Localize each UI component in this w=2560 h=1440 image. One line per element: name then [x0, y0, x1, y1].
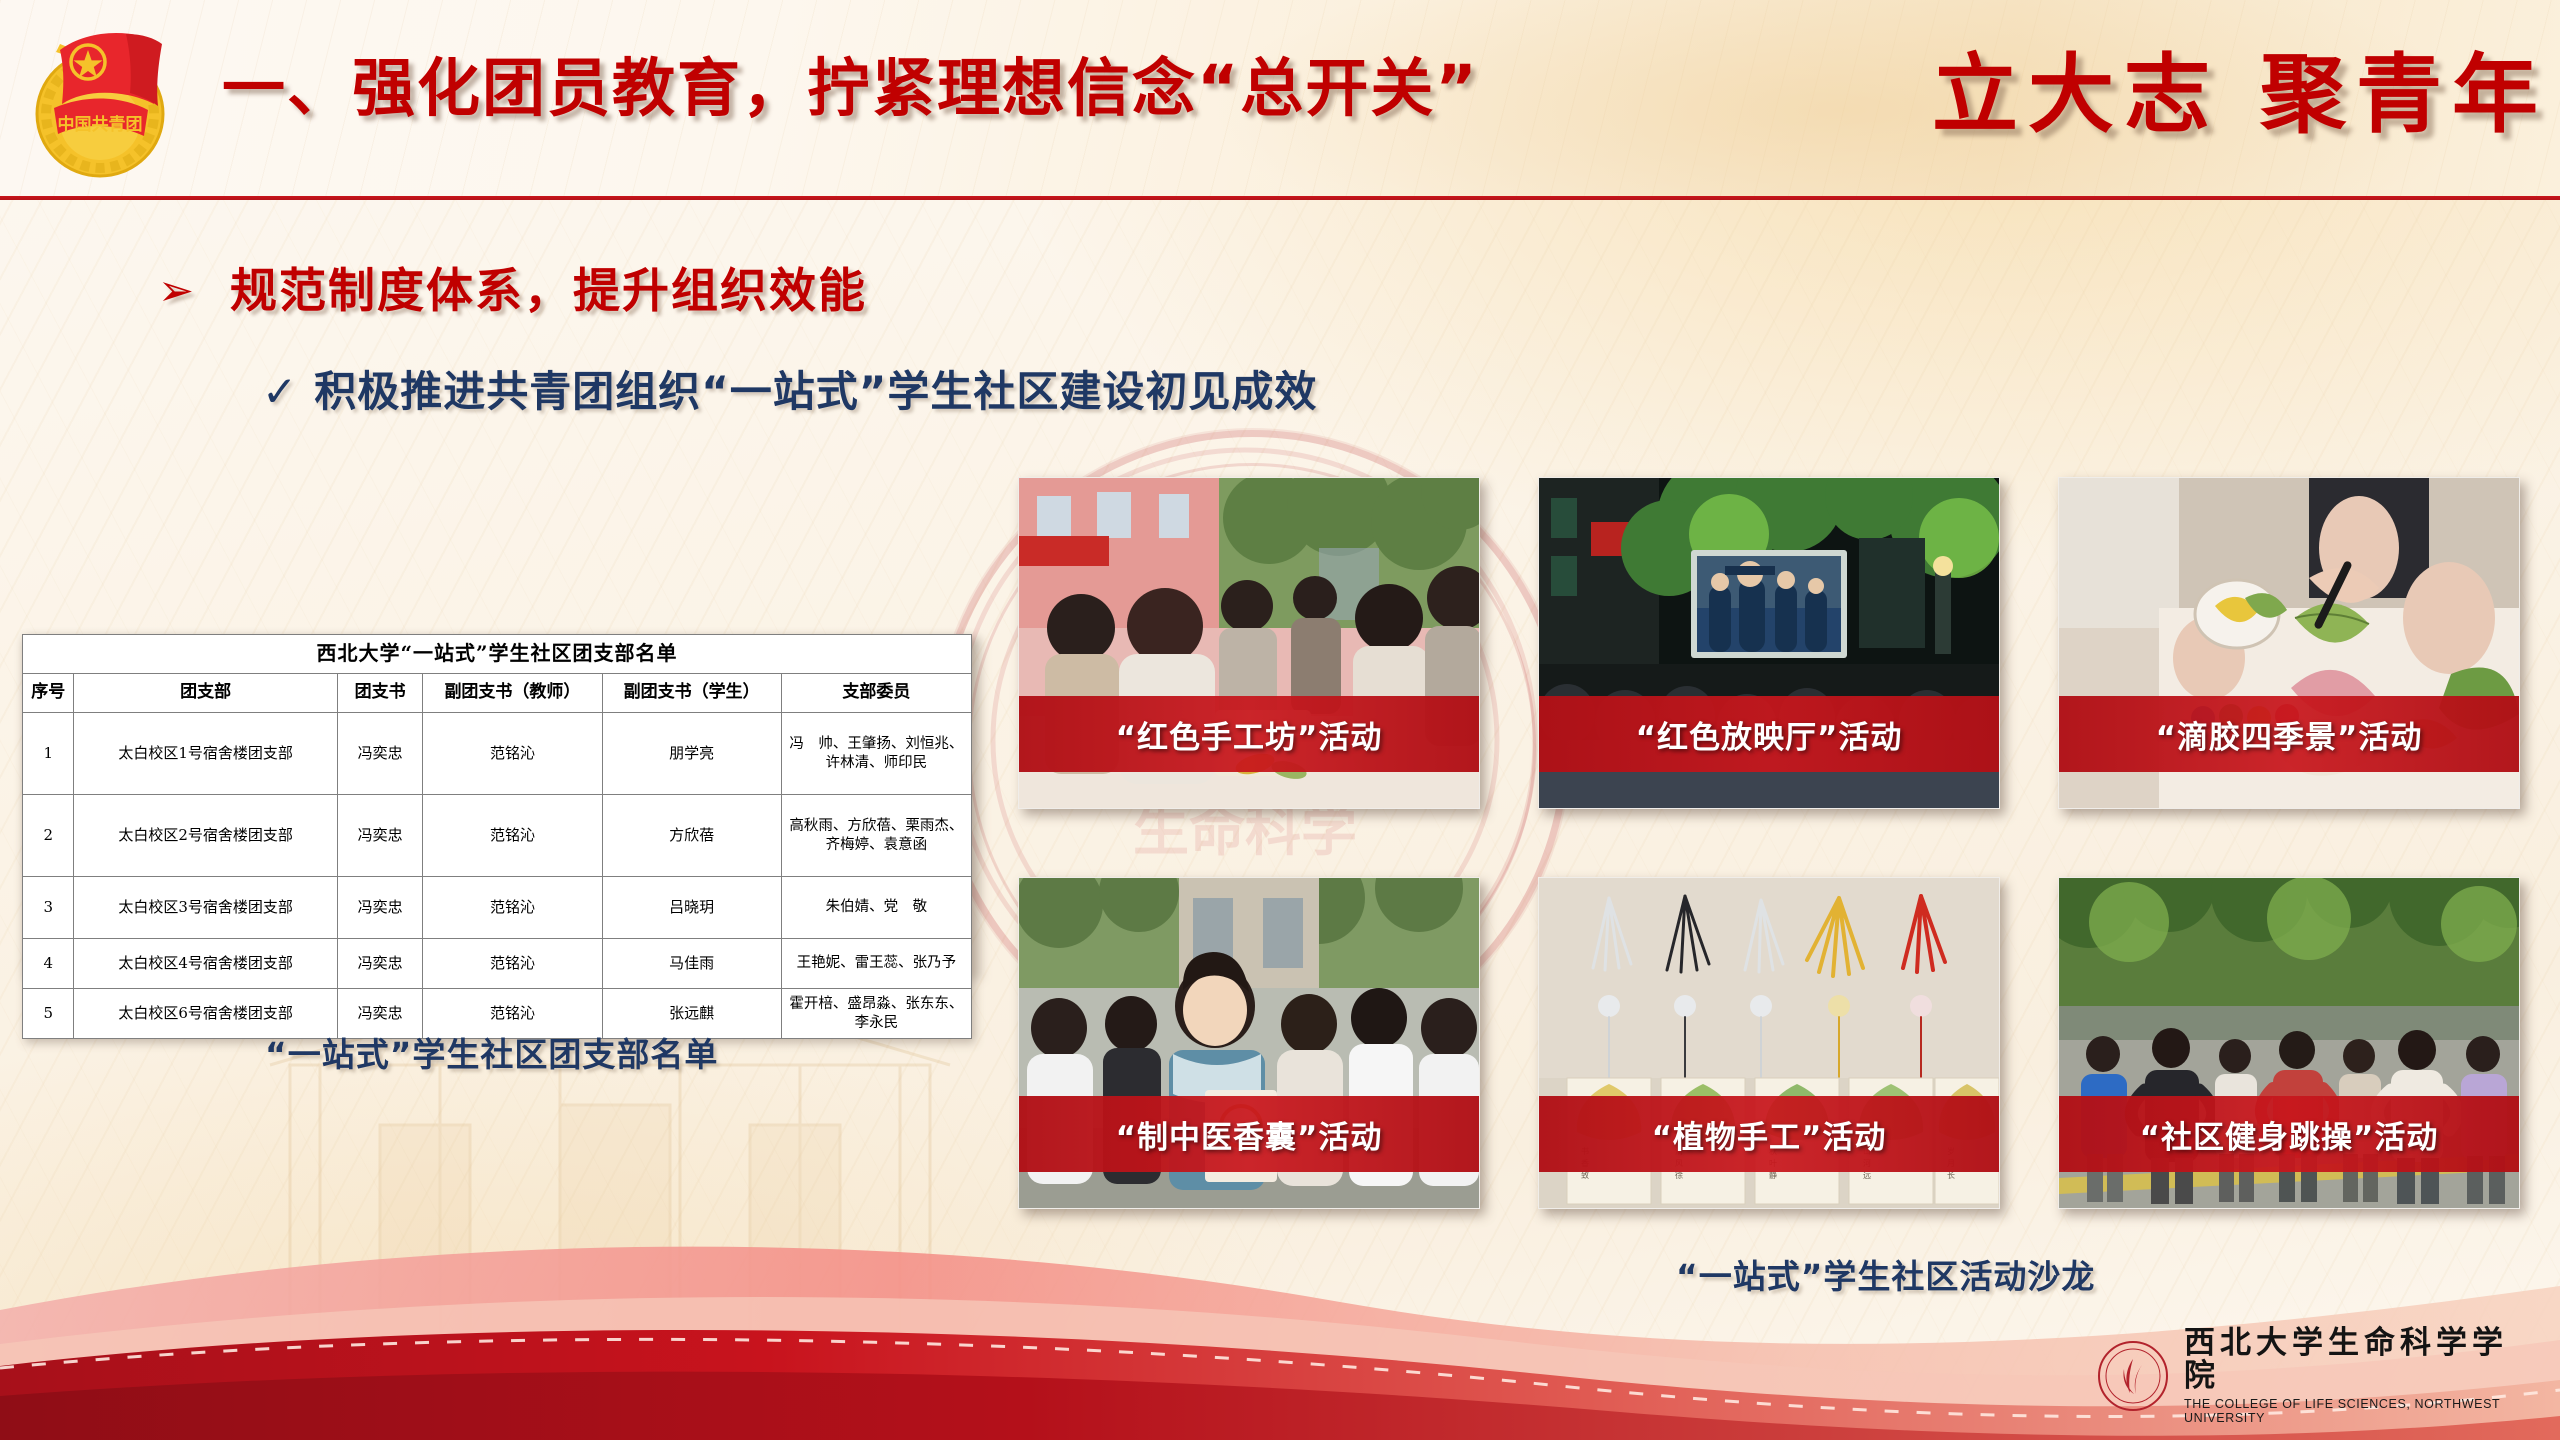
- photo-caption: “植物手工”活动: [1539, 1096, 1999, 1172]
- cell-secretary: 冯奕忠: [337, 939, 423, 989]
- footer-logo: 西北大学生命科学学院 THE COLLEGE OF LIFE SCIENCES,…: [2096, 1330, 2516, 1422]
- life-sciences-seal-icon: [2096, 1339, 2170, 1413]
- check-icon: ✓: [262, 367, 298, 416]
- cell-index: 5: [23, 989, 74, 1039]
- bullet-level2: ✓积极推进共青团组织“一站式”学生社区建设初见成效: [262, 358, 1317, 419]
- cell-index: 4: [23, 939, 74, 989]
- cell-secretary: 冯奕忠: [337, 713, 423, 795]
- photo-caption: “红色手工坊”活动: [1019, 696, 1479, 772]
- column-header-members: 支部委员: [781, 674, 971, 713]
- communist-youth-league-emblem-icon: 中国共青团: [26, 12, 174, 184]
- photo-card: 书香致 清风徐 秋叶静 山河远 岁月长 “植物手工”活动: [1538, 877, 2000, 1209]
- cell-members: 高秋雨、方欣蓓、栗雨杰、齐梅婷、袁意函: [781, 795, 971, 877]
- cell-vice-teacher: 范铭沁: [423, 713, 602, 795]
- cell-members: 冯 帅、王肇扬、刘恒兆、许林清、师印民: [781, 713, 971, 795]
- table-header-row: 序号 团支部 团支书 副团支书（教师） 副团支书（学生） 支部委员: [23, 674, 972, 713]
- cell-branch: 太白校区3号宿舍楼团支部: [74, 877, 337, 939]
- bullet-level1-label: 规范制度体系，提升组织效能: [230, 264, 867, 319]
- column-header-index: 序号: [23, 674, 74, 713]
- table-caption: “一站式”学生社区团支部名单: [265, 1028, 718, 1076]
- table-row: 1 太白校区1号宿舍楼团支部 冯奕忠 范铭沁 朋学亮 冯 帅、王肇扬、刘恒兆、许…: [23, 713, 972, 795]
- cell-vice-student: 吕晓玥: [602, 877, 781, 939]
- cell-members: 霍开棓、盛昂淼、张东东、李永民: [781, 989, 971, 1039]
- photo-caption: “滴胶四季景”活动: [2059, 696, 2519, 772]
- cell-members: 朱伯婧、党 敬: [781, 877, 971, 939]
- cell-index: 3: [23, 877, 74, 939]
- chevron-right-icon: ➢: [158, 266, 196, 316]
- branch-roster-table: 西北大学“一站式”学生社区团支部名单 序号 团支部 团支书 副团支书（教师） 副…: [22, 634, 972, 1039]
- photo-card: “社区健身跳操”活动: [2058, 877, 2520, 1209]
- column-header-vice-teacher: 副团支书（教师）: [423, 674, 602, 713]
- slide-canvas: 西北大学 生命科学 中国共青团 一、强化团员教育，拧紧理想信念“总开关” 立大志: [0, 0, 2560, 1440]
- cell-vice-student: 马佳雨: [602, 939, 781, 989]
- column-header-branch: 团支部: [74, 674, 337, 713]
- cell-vice-student: 方欣蓓: [602, 795, 781, 877]
- footer-college-name-cn: 西北大学生命科学学院: [2184, 1327, 2516, 1392]
- cell-branch: 太白校区2号宿舍楼团支部: [74, 795, 337, 877]
- table-row: 2 太白校区2号宿舍楼团支部 冯奕忠 范铭沁 方欣蓓 高秋雨、方欣蓓、栗雨杰、齐…: [23, 795, 972, 877]
- table-row: 4 太白校区4号宿舍楼团支部 冯奕忠 范铭沁 马佳雨 王艳妮、雷王蕊、张乃予: [23, 939, 972, 989]
- slide-header: 中国共青团 一、强化团员教育，拧紧理想信念“总开关” 立大志 聚青年: [0, 0, 2560, 200]
- photo-card: “红色手工坊”活动: [1018, 477, 1480, 809]
- cell-index: 2: [23, 795, 74, 877]
- bullet-level1: ➢规范制度体系，提升组织效能: [158, 252, 867, 321]
- cell-branch: 太白校区4号宿舍楼团支部: [74, 939, 337, 989]
- cell-members: 王艳妮、雷王蕊、张乃予: [781, 939, 971, 989]
- footer-text-block: 西北大学生命科学学院 THE COLLEGE OF LIFE SCIENCES,…: [2184, 1327, 2516, 1424]
- cell-vice-teacher: 范铭沁: [423, 877, 602, 939]
- svg-text:远: 远: [1863, 1171, 1871, 1180]
- header-divider: [0, 196, 2560, 200]
- cell-vice-teacher: 范铭沁: [423, 939, 602, 989]
- photo-grid: “红色手工坊”活动: [1018, 477, 2518, 1207]
- cell-index: 1: [23, 713, 74, 795]
- photo-caption: “制中医香囊”活动: [1019, 1096, 1479, 1172]
- photo-card: “制中医香囊”活动: [1018, 877, 1480, 1209]
- column-header-vice-student: 副团支书（学生）: [602, 674, 781, 713]
- svg-text:中国共青团: 中国共青团: [58, 114, 143, 135]
- cell-vice-student: 朋学亮: [602, 713, 781, 795]
- table-row: 3 太白校区3号宿舍楼团支部 冯奕忠 范铭沁 吕晓玥 朱伯婧、党 敬: [23, 877, 972, 939]
- footer-college-name-en: THE COLLEGE OF LIFE SCIENCES, NORTHWEST …: [2184, 1397, 2516, 1425]
- bullet-level2-label: 积极推进共青团组织“一站式”学生社区建设初见成效: [314, 367, 1317, 416]
- cell-branch: 太白校区1号宿舍楼团支部: [74, 713, 337, 795]
- header-slogan: 立大志 聚青年: [1932, 24, 2548, 149]
- photo-card: “红色放映厅”活动: [1538, 477, 2000, 809]
- cell-vice-teacher: 范铭沁: [423, 795, 602, 877]
- page-title: 一、强化团员教育，拧紧理想信念“总开关”: [222, 38, 1479, 129]
- photo-caption: “社区健身跳操”活动: [2059, 1096, 2519, 1172]
- column-header-secretary: 团支书: [337, 674, 423, 713]
- cell-secretary: 冯奕忠: [337, 795, 423, 877]
- photo-card: “滴胶四季景”活动: [2058, 477, 2520, 809]
- table-title: 西北大学“一站式”学生社区团支部名单: [23, 635, 972, 674]
- photo-grid-caption: “一站式”学生社区活动沙龙: [1676, 1250, 2095, 1298]
- photo-caption: “红色放映厅”活动: [1539, 696, 1999, 772]
- cell-secretary: 冯奕忠: [337, 877, 423, 939]
